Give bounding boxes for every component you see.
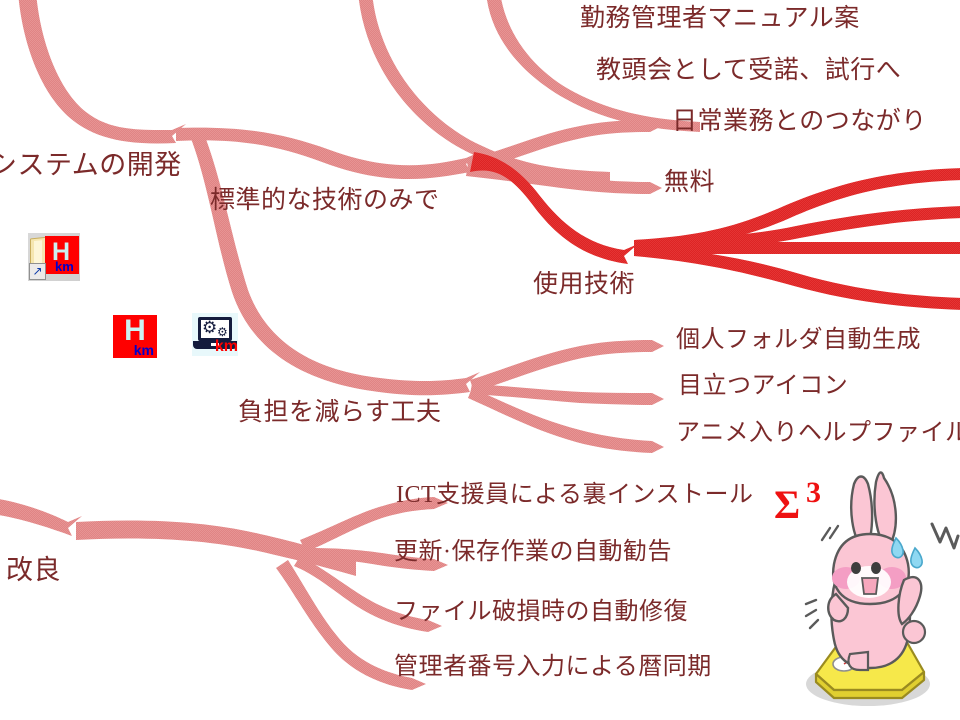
node-label-standard-tech-only[interactable]: 標準的な技術のみで [210,188,440,213]
branch-root-to-system-dev [18,0,186,144]
leaf-label-free[interactable]: 無料 [664,170,715,195]
node-label-used-technology[interactable]: 使用技術 [533,272,635,297]
node-label-system-dev[interactable]: システムの開発 [0,152,182,179]
leaf-label-vice-principal-accept[interactable]: 教頭会として受諾、試行へ [596,58,901,83]
leaf-label-auto-personal-folder[interactable]: 個人フォルダ自動生成 [676,328,921,352]
leaf-label-ict-staff-install[interactable]: ICT支援員による裏インストール [396,483,753,507]
leaf-label-auto-file-repair[interactable]: ファイル破損時の自動修復 [394,600,688,624]
km-label: km [134,343,154,358]
gear-small-icon: ⚙ [217,326,228,338]
shortcut-arrow-icon: ↗ [29,263,46,280]
leaf-label-daily-work-connection[interactable]: 日常業務とのつながり [672,109,927,134]
app-km-icon[interactable]: H km [113,315,157,358]
leaf-label-auto-save-advice[interactable]: 更新·保存作業の自動勧告 [394,540,672,564]
mindmap-canvas: システムの開発 標準的な技術のみで 使用技術 負担を減らす工夫 改良 勤務管理者… [0,0,960,720]
km-label: km [55,260,74,273]
app-km-glyph: H km [113,315,157,358]
laptop-settings-km-icon[interactable]: ⚙ ⚙ km [192,313,238,356]
branch-root-to-kairyou [0,498,82,536]
leaf-label-prominent-icon[interactable]: 目立つアイコン [678,374,848,398]
node-label-reduce-burden[interactable]: 負担を減らす工夫 [238,400,442,425]
gear-icon: ⚙ [202,320,217,337]
h-letter-glyph: H [113,317,157,345]
rabbit-on-scale-sticker [772,468,960,720]
branch-systemdev-to-usedtech [176,128,480,179]
leaf-label-manager-manual-draft[interactable]: 勤務管理者マニュアル案 [580,6,860,31]
branch-dark-4 [634,246,960,310]
leaf-label-animated-help-file[interactable]: アニメ入りヘルプファイル [676,421,960,445]
node-label-improvement[interactable]: 改良 [6,557,61,584]
folder-shortcut-km-icon[interactable]: H km ↗ [28,233,80,281]
branch-to-kojin-folder [470,340,664,392]
branches-light [0,0,700,690]
km-label: km [215,339,238,355]
folder-shortcut-km-glyph: H km ↗ [28,233,80,281]
leaf-label-admin-number-calendar-sync[interactable]: 管理者番号入力による暦同期 [394,655,712,679]
laptop-settings-glyph: ⚙ ⚙ km [192,313,238,356]
